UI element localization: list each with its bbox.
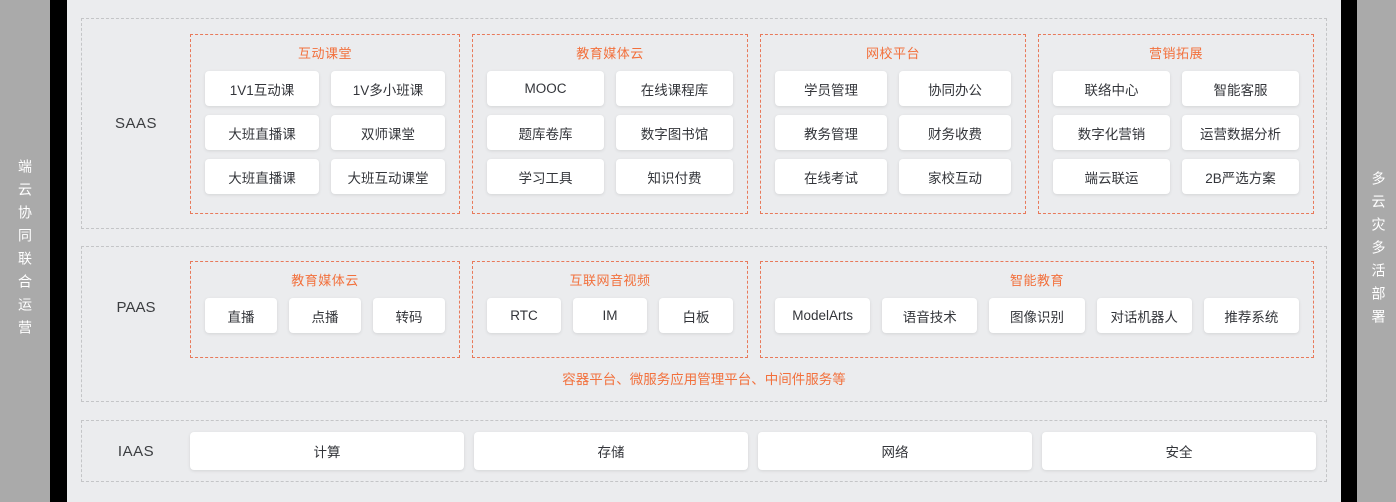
group-interactive-classroom: 互动课堂 1V1互动课 1V多小班课 大班直播课 双师课堂 大班直播课 大班互动… <box>190 34 460 214</box>
service-card[interactable]: 智能客服 <box>1182 71 1299 106</box>
service-card[interactable]: 学员管理 <box>775 71 887 106</box>
group-marketing-expansion: 营销拓展 联络中心 智能客服 数字化营销 运营数据分析 端云联运 2B严选方案 <box>1038 34 1314 214</box>
service-card[interactable]: 大班互动课堂 <box>331 159 445 194</box>
right-rail: 多云灾多活部署 <box>1357 0 1396 502</box>
service-card[interactable]: 直播 <box>205 298 277 333</box>
group-cards: 学员管理 协同办公 教务管理 财务收费 在线考试 家校互动 <box>775 71 1011 194</box>
group-cards: RTC IM 白板 <box>487 298 733 333</box>
group-education-media-cloud-paas: 教育媒体云 直播 点播 转码 <box>190 261 460 358</box>
service-card[interactable]: 双师课堂 <box>331 115 445 150</box>
right-rail-label: 多云灾多活部署 <box>1372 171 1386 332</box>
layer-paas-label: PAAS <box>82 247 190 368</box>
diagram-canvas: SAAS 互动课堂 1V1互动课 1V多小班课 大班直播课 双师课堂 大班直播课… <box>67 0 1341 502</box>
service-card[interactable]: 白板 <box>659 298 733 333</box>
iaas-cards: 计算 存储 网络 安全 <box>190 421 1326 481</box>
architecture-diagram: 端云协同联合运营 SAAS 互动课堂 1V1互动课 1V多小班课 大班直播课 双… <box>0 0 1396 502</box>
paas-row: PAAS 教育媒体云 直播 点播 转码 互联网音视频 RTC <box>82 247 1326 368</box>
layer-iaas: IAAS 计算 存储 网络 安全 <box>81 420 1327 482</box>
service-card[interactable]: 财务收费 <box>899 115 1011 150</box>
group-cards: 联络中心 智能客服 数字化营销 运营数据分析 端云联运 2B严选方案 <box>1053 71 1299 194</box>
group-title: 网校平台 <box>866 43 920 62</box>
service-card[interactable]: 推荐系统 <box>1204 298 1299 333</box>
group-title: 教育媒体云 <box>291 270 359 289</box>
group-title: 教育媒体云 <box>576 43 644 62</box>
saas-groups: 互动课堂 1V1互动课 1V多小班课 大班直播课 双师课堂 大班直播课 大班互动… <box>190 19 1326 228</box>
service-card[interactable]: MOOC <box>487 71 604 106</box>
service-card[interactable]: 在线课程库 <box>616 71 733 106</box>
service-card[interactable]: 运营数据分析 <box>1182 115 1299 150</box>
service-card[interactable]: 学习工具 <box>487 159 604 194</box>
service-card[interactable]: 联络中心 <box>1053 71 1170 106</box>
group-cards: 1V1互动课 1V多小班课 大班直播课 双师课堂 大班直播课 大班互动课堂 <box>205 71 445 194</box>
service-card[interactable]: 家校互动 <box>899 159 1011 194</box>
service-card[interactable]: 语音技术 <box>882 298 977 333</box>
group-internet-audio-video: 互联网音视频 RTC IM 白板 <box>472 261 748 358</box>
layer-paas: PAAS 教育媒体云 直播 点播 转码 互联网音视频 RTC <box>81 246 1327 402</box>
group-cards: ModelArts 语音技术 图像识别 对话机器人 推荐系统 <box>775 298 1299 333</box>
service-card[interactable]: 在线考试 <box>775 159 887 194</box>
service-card[interactable]: 题库卷库 <box>487 115 604 150</box>
service-card[interactable]: 大班直播课 <box>205 159 319 194</box>
left-rail: 端云协同联合运营 <box>0 0 50 502</box>
group-title: 互动课堂 <box>298 43 352 62</box>
service-card[interactable]: 教务管理 <box>775 115 887 150</box>
service-card[interactable]: 协同办公 <box>899 71 1011 106</box>
layer-saas: SAAS 互动课堂 1V1互动课 1V多小班课 大班直播课 双师课堂 大班直播课… <box>81 18 1327 229</box>
service-card[interactable]: 网络 <box>758 432 1032 470</box>
service-card[interactable]: 大班直播课 <box>205 115 319 150</box>
service-card[interactable]: 1V1互动课 <box>205 71 319 106</box>
service-card[interactable]: 对话机器人 <box>1097 298 1192 333</box>
service-card[interactable]: 安全 <box>1042 432 1316 470</box>
layer-iaas-label: IAAS <box>82 421 190 481</box>
service-card[interactable]: 2B严选方案 <box>1182 159 1299 194</box>
group-cards: MOOC 在线课程库 题库卷库 数字图书馆 学习工具 知识付费 <box>487 71 733 194</box>
group-cards: 直播 点播 转码 <box>205 298 445 333</box>
service-card[interactable]: 数字化营销 <box>1053 115 1170 150</box>
service-card[interactable]: 图像识别 <box>989 298 1084 333</box>
service-card[interactable]: RTC <box>487 298 561 333</box>
left-rail-label: 端云协同联合运营 <box>18 159 32 343</box>
paas-footnote: 容器平台、微服务应用管理平台、中间件服务等 <box>82 368 1326 401</box>
service-card[interactable]: ModelArts <box>775 298 870 333</box>
paas-groups: 教育媒体云 直播 点播 转码 互联网音视频 RTC IM 白板 <box>190 247 1326 368</box>
service-card[interactable]: 1V多小班课 <box>331 71 445 106</box>
service-card[interactable]: 端云联运 <box>1053 159 1170 194</box>
service-card[interactable]: IM <box>573 298 647 333</box>
service-card[interactable]: 转码 <box>373 298 445 333</box>
group-title: 互联网音视频 <box>569 270 650 289</box>
service-card[interactable]: 点播 <box>289 298 361 333</box>
group-education-media-cloud: 教育媒体云 MOOC 在线课程库 题库卷库 数字图书馆 学习工具 知识付费 <box>472 34 748 214</box>
service-card[interactable]: 数字图书馆 <box>616 115 733 150</box>
group-online-school-platform: 网校平台 学员管理 协同办公 教务管理 财务收费 在线考试 家校互动 <box>760 34 1026 214</box>
left-rail-divider <box>50 0 67 502</box>
service-card[interactable]: 知识付费 <box>616 159 733 194</box>
service-card[interactable]: 存储 <box>474 432 748 470</box>
group-title: 智能教育 <box>1010 270 1064 289</box>
layer-saas-label: SAAS <box>82 19 190 228</box>
service-card[interactable]: 计算 <box>190 432 464 470</box>
group-intelligent-education: 智能教育 ModelArts 语音技术 图像识别 对话机器人 推荐系统 <box>760 261 1314 358</box>
group-title: 营销拓展 <box>1149 43 1203 62</box>
right-rail-divider <box>1341 0 1357 502</box>
